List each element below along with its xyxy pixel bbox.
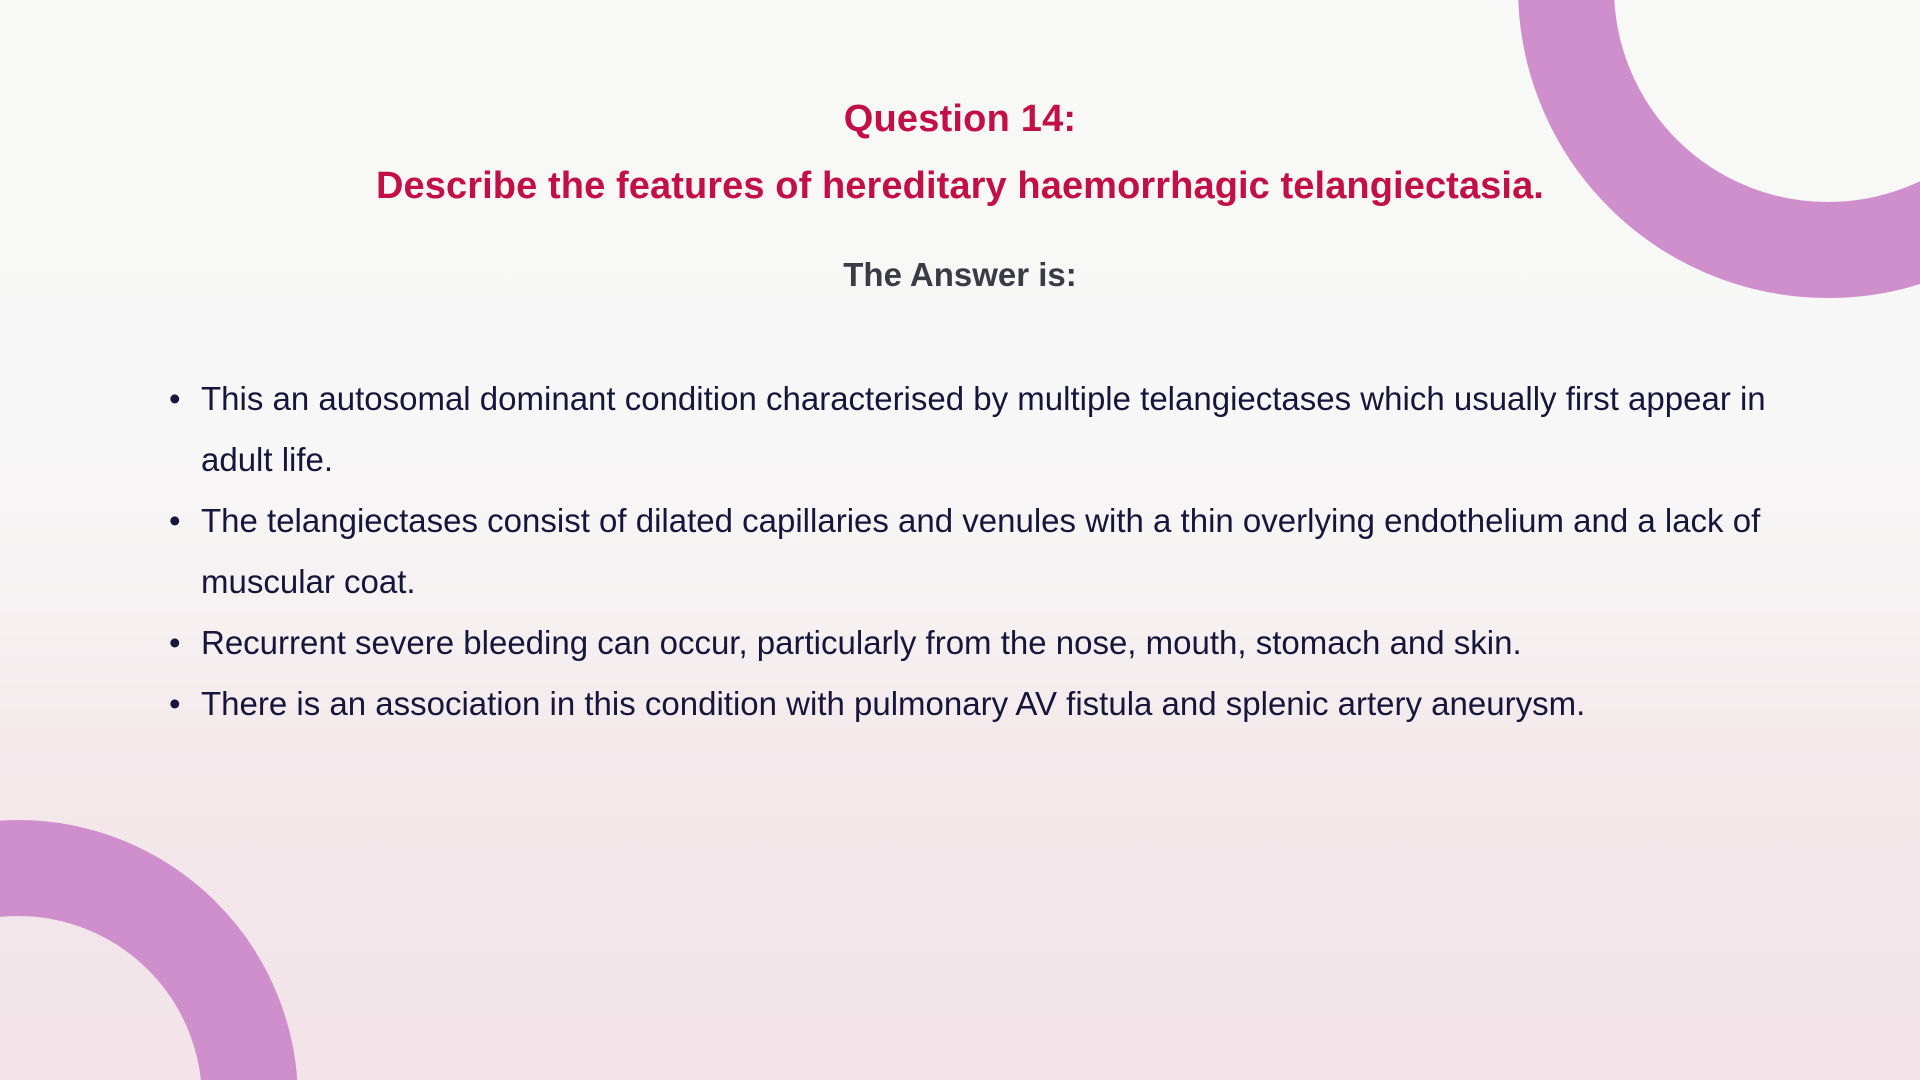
question-number-heading: Question 14: — [0, 98, 1920, 141]
list-item: • The telangiectases consist of dilated … — [165, 490, 1795, 612]
answer-bullet-list: • This an autosomal dominant condition c… — [165, 368, 1795, 734]
list-item-text: There is an association in this conditio… — [201, 673, 1795, 734]
list-item: • There is an association in this condit… — [165, 673, 1795, 734]
bullet-dot-icon: • — [169, 368, 189, 429]
answer-label: The Answer is: — [0, 256, 1920, 294]
slide-content: Question 14: Describe the features of he… — [0, 0, 1920, 1080]
bullet-dot-icon: • — [169, 673, 189, 734]
question-text-heading: Describe the features of hereditary haem… — [0, 165, 1920, 208]
bullet-dot-icon: • — [169, 490, 189, 551]
list-item: • This an autosomal dominant condition c… — [165, 368, 1795, 490]
bullet-dot-icon: • — [169, 612, 189, 673]
list-item-text: The telangiectases consist of dilated ca… — [201, 490, 1795, 612]
slide-canvas: Question 14: Describe the features of he… — [0, 0, 1920, 1080]
list-item-text: Recurrent severe bleeding can occur, par… — [201, 612, 1795, 673]
list-item: • Recurrent severe bleeding can occur, p… — [165, 612, 1795, 673]
list-item-text: This an autosomal dominant condition cha… — [201, 368, 1795, 490]
